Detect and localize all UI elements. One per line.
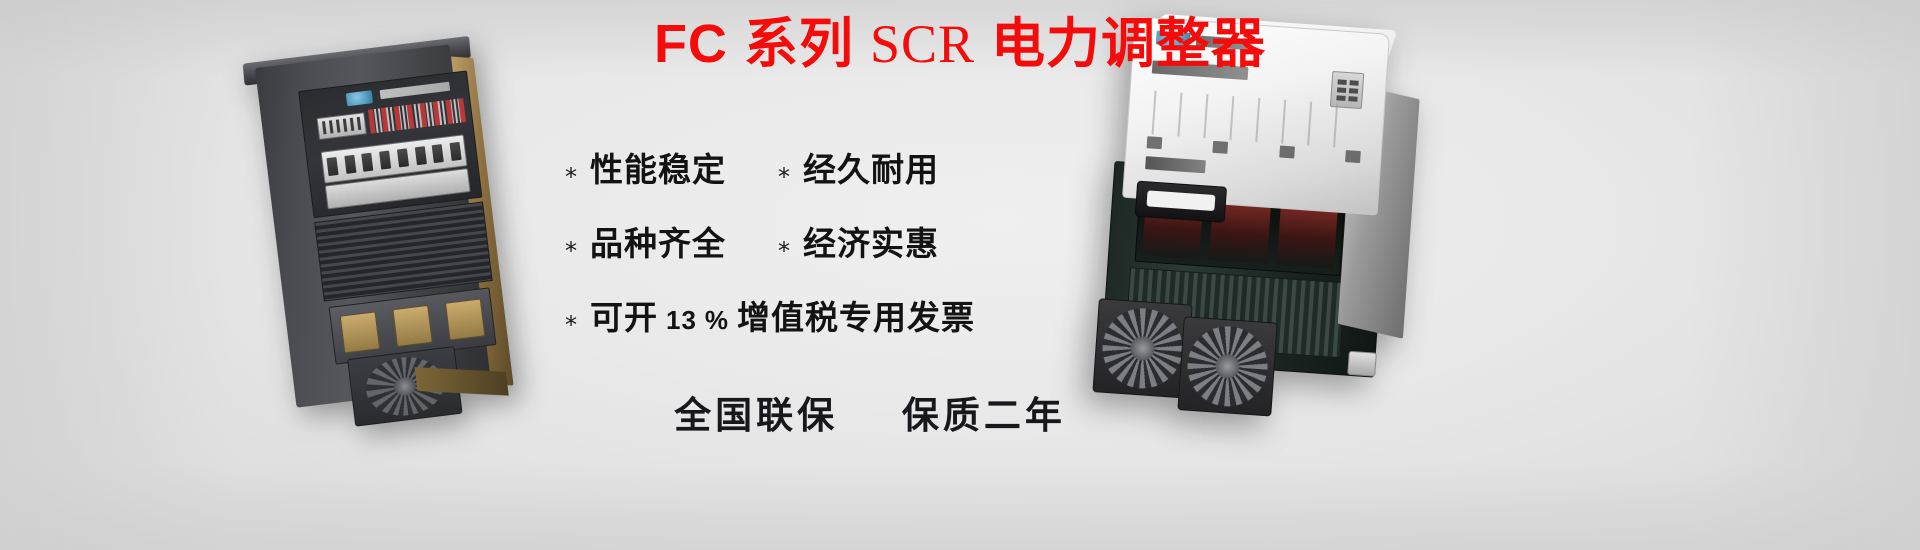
- feature-row-2: * 品种齐全 * 经济实惠: [565, 217, 995, 265]
- bullet-star-icon: *: [565, 163, 577, 191]
- product-image-left-scr-regulator: [226, 33, 537, 433]
- bullet-star-icon: *: [565, 311, 577, 339]
- feature-label: 品种齐全: [590, 217, 726, 265]
- feature-item-stable-performance: * 性能稳定: [565, 143, 726, 191]
- right-product-cooling-fan-2: [1177, 316, 1277, 416]
- left-product-base-bracket: [415, 367, 509, 396]
- slogan-part-two-year-quality: 保质二年: [902, 393, 1066, 437]
- right-product-cooling-fan-1: [1092, 298, 1192, 398]
- left-product-heatsink-fins: [314, 201, 492, 301]
- banner-headline: FC 系列 SCR 电力调整器: [0, 8, 1920, 80]
- headline-technology: SCR: [870, 14, 975, 74]
- invoice-rate-value: 13: [666, 305, 697, 336]
- feature-list: * 性能稳定 * 经久耐用 * 品种齐全 * 经济实惠 * 可开 13: [565, 143, 995, 365]
- left-product-dip-switches: [317, 112, 367, 140]
- feature-label: 性能稳定: [590, 143, 726, 191]
- left-product-model-label: [380, 82, 451, 99]
- feature-row-3: * 可开 13 % 增值税专用发票: [565, 291, 1045, 339]
- right-product-load-label: [1145, 156, 1206, 173]
- left-product-front-panel: [298, 70, 482, 218]
- headline-series-word: 系列: [744, 12, 854, 75]
- feature-item-full-range: * 品种齐全: [565, 217, 726, 265]
- bullet-star-icon: *: [778, 237, 790, 265]
- feature-item-durable: * 经久耐用: [778, 143, 939, 191]
- bullet-star-icon: *: [778, 163, 790, 191]
- slogan-part-nationwide-warranty: 全国联保: [674, 393, 838, 437]
- right-product-handle: [1135, 181, 1227, 223]
- headline-product-name: 电力调整器: [991, 12, 1266, 75]
- invoice-prefix-label: 可开: [590, 291, 658, 339]
- left-product-body: [255, 44, 491, 407]
- left-product-brand-logo-icon: [346, 90, 373, 106]
- left-product-terminal-legend: [368, 98, 466, 134]
- headline-brand: FC: [654, 14, 728, 74]
- feature-label: 经济实惠: [803, 217, 939, 265]
- invoice-percent-sign: %: [705, 305, 729, 336]
- product-banner: FC 系列 SCR 电力调整器 * 性能稳定 * 经久耐用 * 品种齐全 * 经…: [0, 0, 1920, 550]
- invoice-suffix-label: 增值税专用发票: [737, 291, 975, 339]
- feature-item-economical: * 经济实惠: [778, 217, 939, 265]
- right-product-side-knob: [1347, 351, 1377, 377]
- bullet-star-icon: *: [565, 237, 577, 265]
- feature-row-1: * 性能稳定 * 经久耐用: [565, 143, 995, 191]
- warranty-slogan: 全国联保 保质二年: [640, 385, 1100, 439]
- feature-label: 经久耐用: [803, 143, 939, 191]
- feature-item-vat-invoice: * 可开 13 % 增值税专用发票: [565, 291, 975, 339]
